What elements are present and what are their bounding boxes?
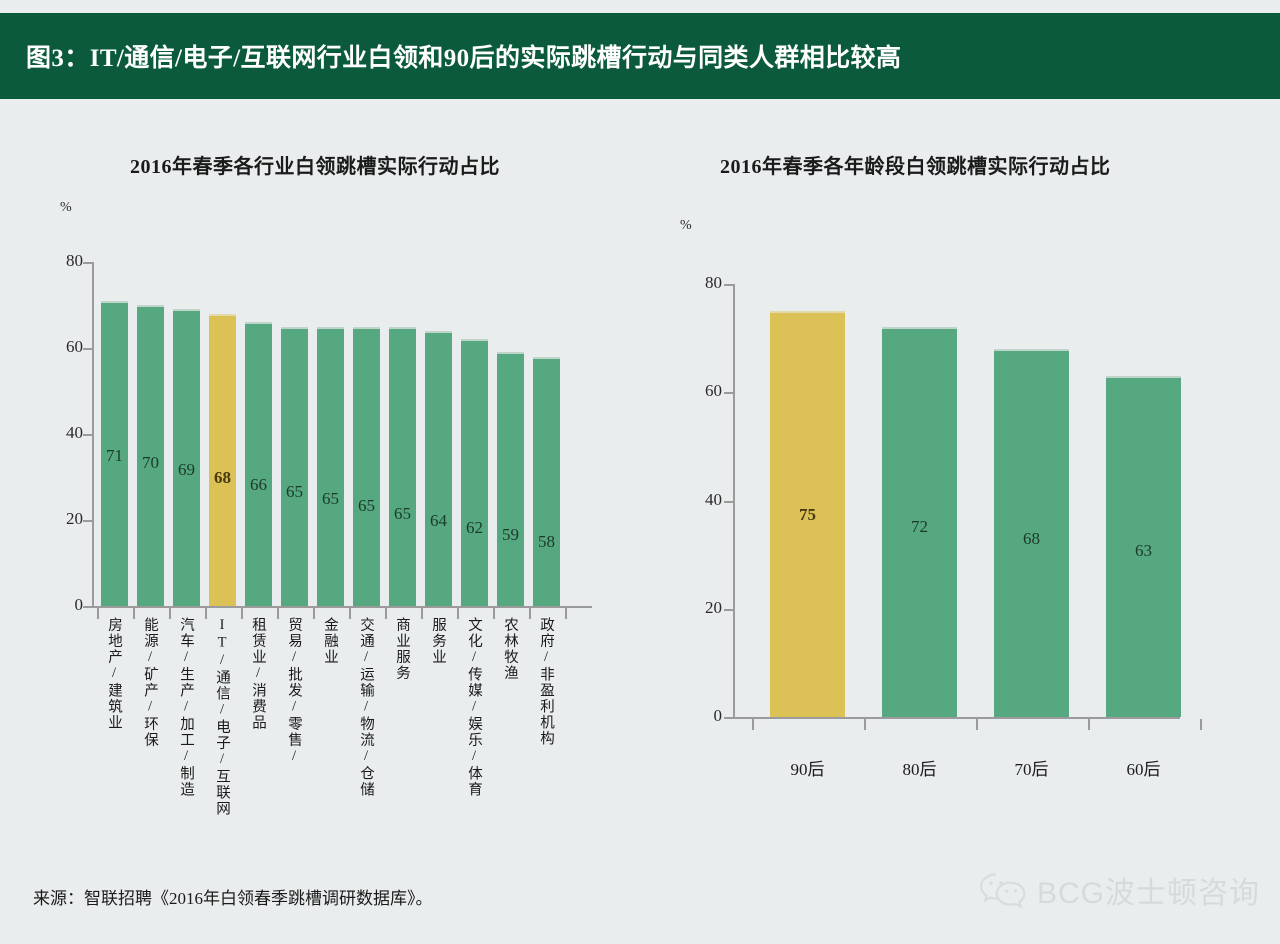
industry-chart-y-tick [83,262,92,264]
industry-chart-x-tick [493,608,495,619]
industry-chart-y-tick-label: 80 [49,251,83,271]
category-label: 商业服务 [395,617,410,681]
age-chart-y-tick-label: 20 [688,598,722,618]
bar-value-label: 69 [173,460,200,480]
age-chart-y-tick-label: 0 [688,706,722,726]
bar [533,357,560,606]
category-label: 政府/非盈利机构 [539,617,554,747]
bar [173,309,200,606]
bar-value-label: 64 [425,511,452,531]
category-label: 70后 [994,755,1069,780]
category-label: 能源/矿产/环保 [143,617,158,748]
industry-chart-x-tick [349,608,351,619]
industry-chart-x-tick [565,608,567,619]
wechat-icon [977,870,1029,910]
bar [461,339,488,606]
category-label: 90后 [770,755,845,780]
industry-chart-y-axis [92,262,94,608]
industry-chart-x-tick [169,608,171,619]
bar-value-label: 62 [461,518,488,538]
bar-value-label: 65 [353,496,380,516]
category-label: 服务业 [431,617,446,665]
bar [425,331,452,606]
bar-value-label: 63 [1106,541,1181,561]
watermark-text: BCG波士顿咨询 [1037,868,1260,912]
bar-value-label: 58 [533,532,560,552]
category-label: 交通/运输/物流/仓储 [359,617,374,798]
age-chart-y-tick [724,501,733,503]
category-label: 租赁业/消费品 [251,617,266,731]
category-label: 贸易/批发/零售/ [287,617,302,766]
industry-chart-x-tick [205,608,207,619]
bar [389,327,416,607]
age-chart-y-tick [724,392,733,394]
age-chart-y-tick-label: 40 [688,490,722,510]
bar-value-label: 70 [137,453,164,473]
category-label: 农林牧渔 [503,617,518,681]
industry-chart-panel: 2016年春季各行业白领跳槽实际行动占比 % 02040608071房地产/建筑… [0,0,660,880]
age-chart-x-tick [752,719,754,730]
category-label: 房地产/建筑业 [107,617,122,731]
category-label: IT/通信/电子/互联网 [215,617,230,817]
industry-chart-y-tick-label: 0 [49,595,83,615]
bar [245,322,272,606]
bar-value-label: 68 [209,468,236,488]
bar-value-label: 66 [245,475,272,495]
industry-chart-y-tick [83,434,92,436]
category-label: 汽车/生产/加工/制造 [179,617,194,798]
bar-value-label: 59 [497,525,524,545]
bar-value-label: 75 [770,505,845,525]
watermark: BCG波士顿咨询 [977,868,1260,912]
industry-chart-x-tick [529,608,531,619]
bar [317,327,344,607]
industry-chart-x-tick [97,608,99,619]
age-chart-y-tick [724,609,733,611]
industry-chart-plot: 02040608071房地产/建筑业70能源/矿产/环保69汽车/生产/加工/制… [0,0,660,880]
industry-chart-y-tick-label: 40 [49,423,83,443]
age-chart-y-tick-label: 60 [688,381,722,401]
bar-value-label: 72 [882,517,957,537]
bar [209,314,236,606]
industry-chart-x-axis [92,606,592,608]
age-chart-y-tick-label: 80 [688,273,722,293]
category-label: 60后 [1106,755,1181,780]
age-chart-x-tick [1200,719,1202,730]
bar-value-label: 71 [101,446,128,466]
age-chart-x-axis [733,717,1180,719]
bar [353,327,380,607]
age-chart-plot: 0204060807590后7280后6870后6360后 [660,0,1280,880]
industry-chart-x-tick [385,608,387,619]
bar-value-label: 65 [389,504,416,524]
industry-chart-x-tick [277,608,279,619]
bar [281,327,308,607]
industry-chart-x-tick [421,608,423,619]
industry-chart-y-tick-label: 20 [49,509,83,529]
age-chart-y-tick [724,717,733,719]
category-label: 金融业 [323,617,338,665]
age-chart-x-tick [976,719,978,730]
industry-chart-x-tick [241,608,243,619]
industry-chart-y-tick [83,348,92,350]
bar [497,352,524,606]
industry-chart-x-tick [133,608,135,619]
industry-chart-x-tick [457,608,459,619]
age-chart-y-tick [724,284,733,286]
category-label: 文化/传媒/娱乐/体育 [467,617,482,798]
bar-value-label: 65 [317,489,344,509]
industry-chart-y-tick [83,606,92,608]
industry-chart-y-tick [83,520,92,522]
industry-chart-x-tick [313,608,315,619]
age-chart-x-tick [864,719,866,730]
source-note: 来源：智联招聘《2016年白领春季跳槽调研数据库》。 [33,884,433,909]
age-chart-y-axis [733,284,735,719]
bar-value-label: 65 [281,482,308,502]
age-chart-panel: 2016年春季各年龄段白领跳槽实际行动占比 % 0204060807590后72… [660,0,1280,880]
age-chart-x-tick [1088,719,1090,730]
bar-value-label: 68 [994,529,1069,549]
industry-chart-y-tick-label: 60 [49,337,83,357]
category-label: 80后 [882,755,957,780]
